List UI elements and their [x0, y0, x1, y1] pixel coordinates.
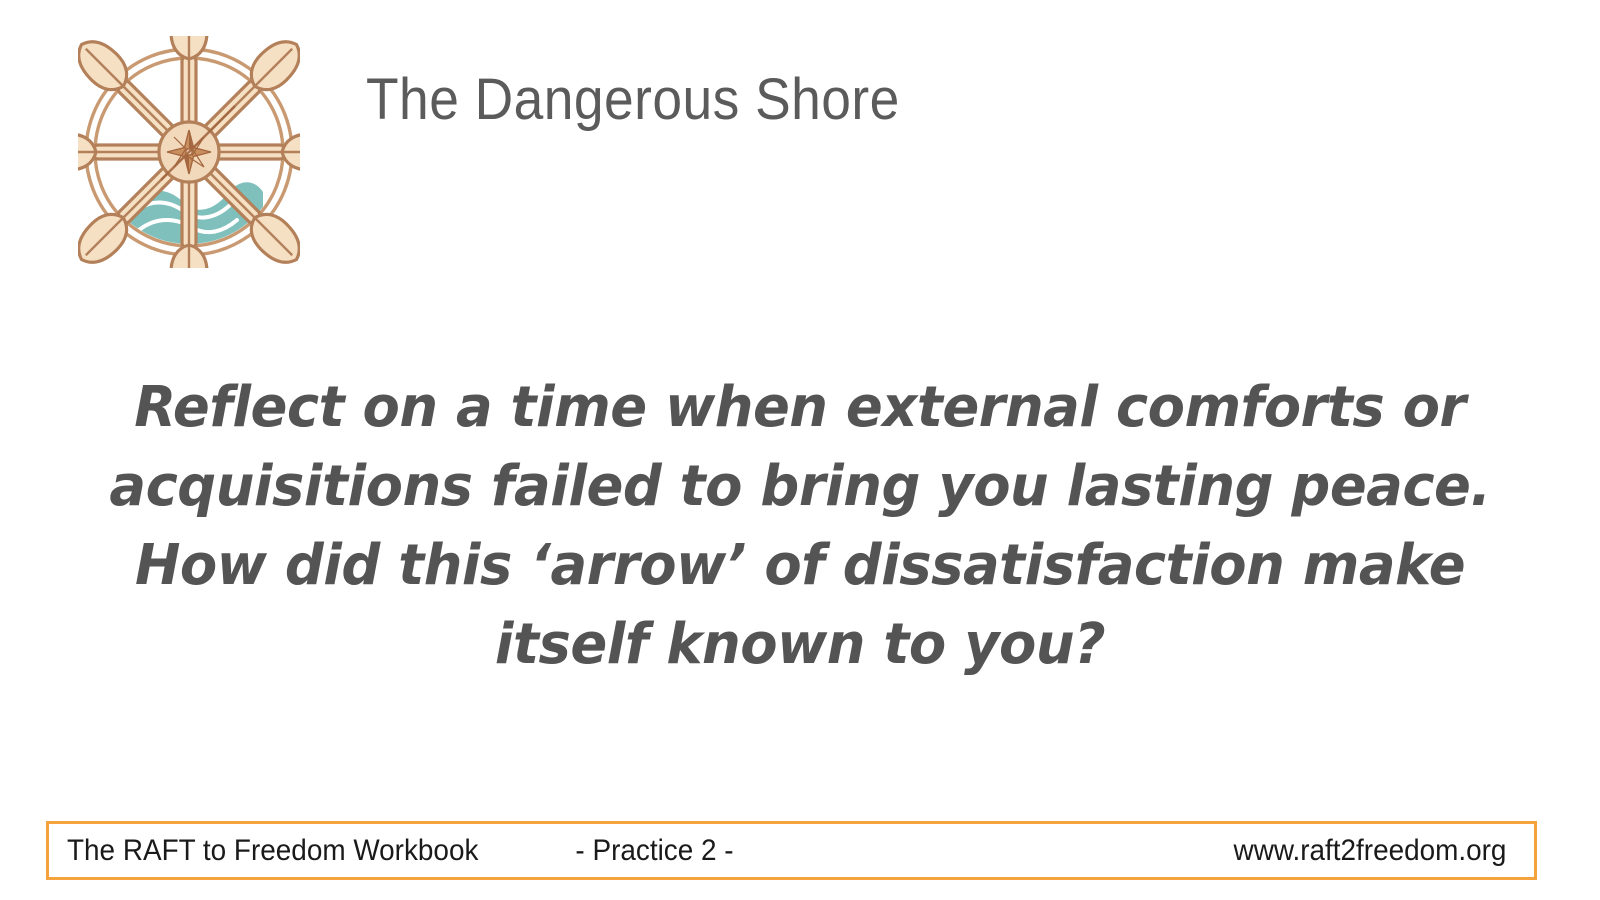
footer-practice-label: - Practice 2 -: [0, 834, 1345, 868]
footer-website-url[interactable]: www.raft2freedom.org: [1233, 834, 1506, 868]
reflection-prompt: Reflect on a time when external comforts…: [82, 368, 1518, 684]
ships-wheel-icon: [78, 36, 300, 268]
slide-footer: The RAFT to Freedom Workbook - Practice …: [46, 821, 1537, 880]
slide-header: The Dangerous Shore: [0, 0, 1600, 290]
slide-root: The Dangerous Shore Reflect on a time wh…: [0, 0, 1600, 900]
page-title: The Dangerous Shore: [366, 68, 900, 132]
ships-wheel-logo: [78, 36, 300, 268]
